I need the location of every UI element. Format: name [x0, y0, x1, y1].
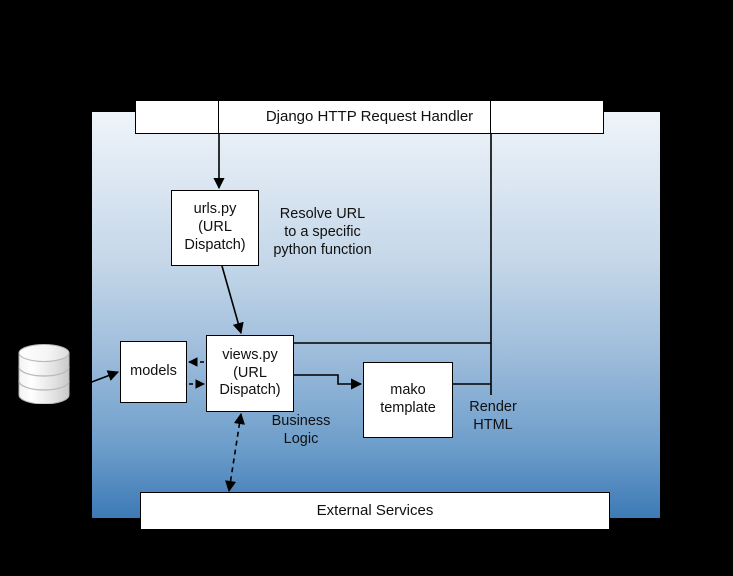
node-urls-py[interactable]: urls.py (URL Dispatch) [171, 190, 259, 266]
node-label: Django HTTP Request Handler [266, 108, 473, 126]
node-label: views.py (URL Dispatch) [219, 347, 280, 400]
header-divider-right [490, 100, 491, 134]
node-django-http-request-handler[interactable]: Django HTTP Request Handler [135, 100, 604, 134]
annotation-resolve-url: Resolve URL to a specific python functio… [260, 205, 385, 259]
node-label: External Services [317, 502, 434, 520]
node-mako-template[interactable]: mako template [363, 362, 453, 438]
node-views-py[interactable]: views.py (URL Dispatch) [206, 335, 294, 412]
node-label: mako template [380, 382, 436, 417]
node-models[interactable]: models [120, 341, 187, 403]
annotation-render-html: Render HTML [458, 398, 528, 434]
header-divider-left [218, 100, 219, 134]
diagram-canvas: Django HTTP Request Handler urls.py (URL… [0, 0, 733, 576]
node-label: models [130, 363, 177, 381]
node-label: urls.py (URL Dispatch) [184, 201, 245, 254]
annotation-business-logic: Business Logic [255, 412, 347, 448]
database-cylinder-icon [18, 344, 70, 404]
request-lifecycle-panel [92, 112, 660, 518]
node-external-services[interactable]: External Services [140, 492, 610, 530]
